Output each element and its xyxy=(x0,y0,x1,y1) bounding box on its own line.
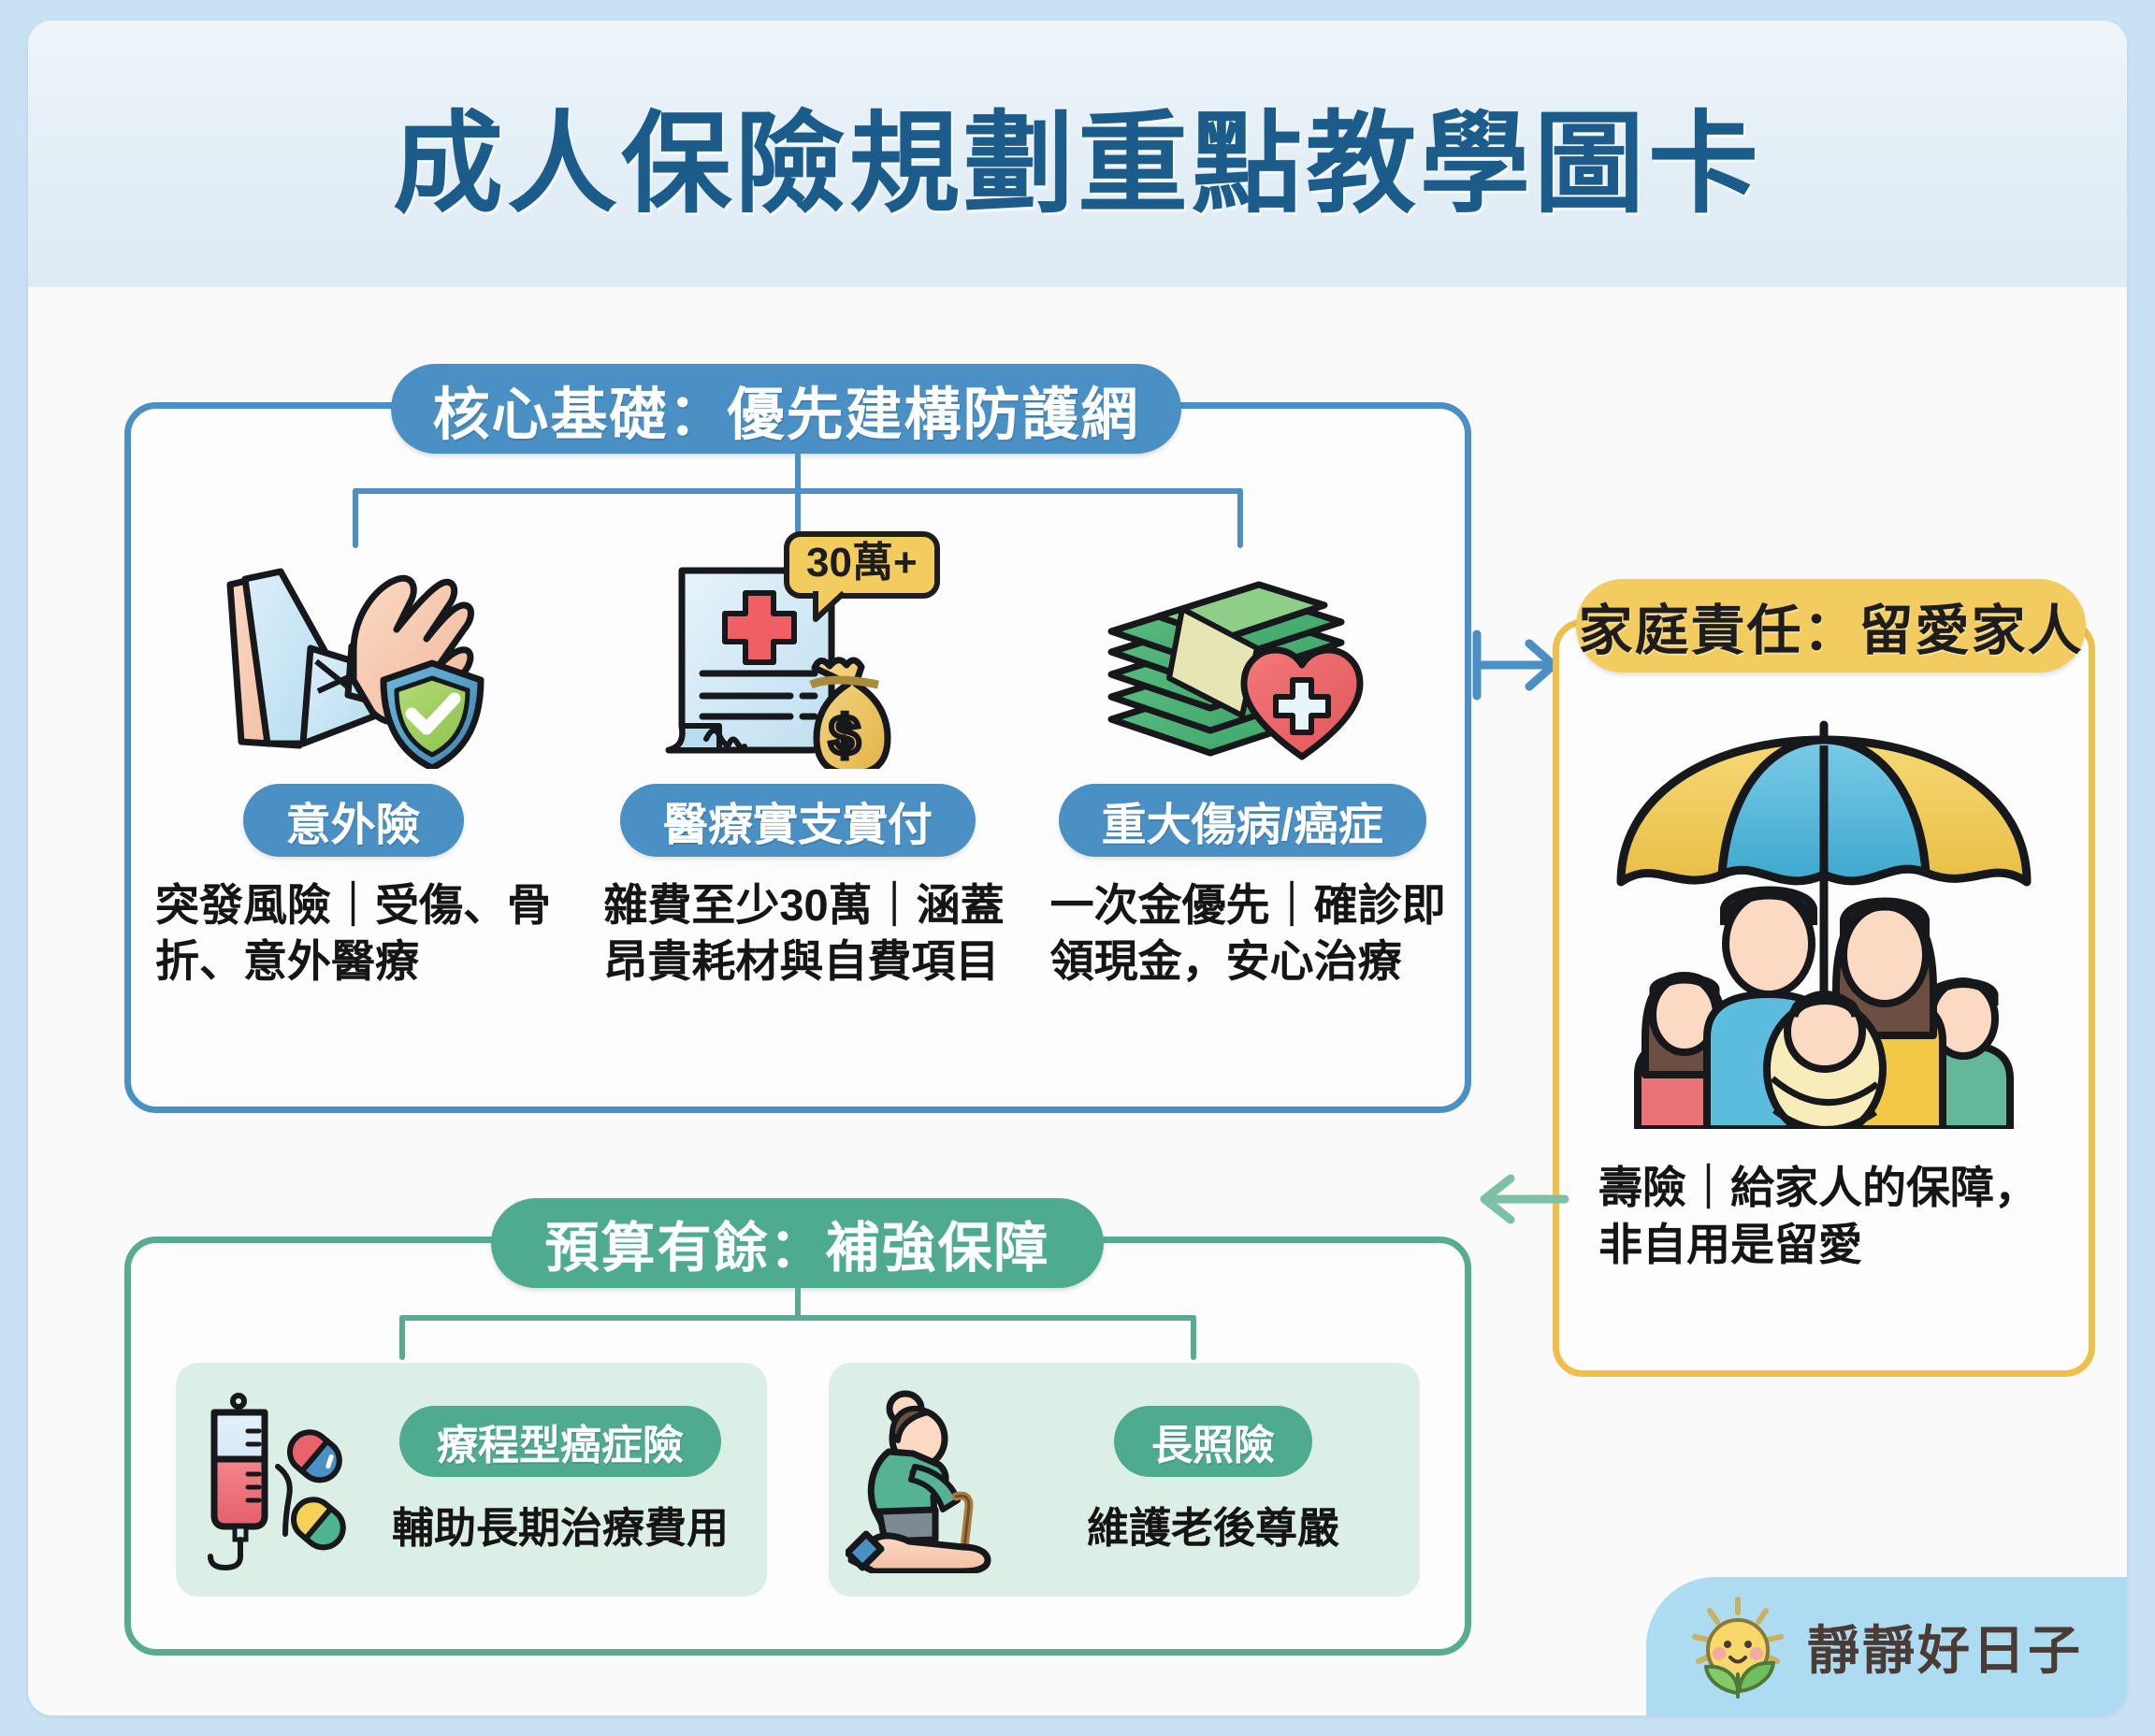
core-item-medical: $ 醫療實支實付 雜費至少30萬｜涵蓋昂貴耗材與自費項目 xyxy=(575,549,1020,990)
budget-text-cancer: 療程型癌症險 輔助長期治療費用 xyxy=(370,1406,750,1555)
core-item-accident: 意外險 突發風險｜受傷、骨折、意外醫療 xyxy=(131,549,575,990)
core-foundation-badge: 核心基礎：優先建構防護網 xyxy=(391,364,1181,454)
family-responsibility-badge: 家庭責任：留愛家人 xyxy=(1576,579,2086,673)
core-desc-accident: 突發風險｜受傷、骨折、意外醫療 xyxy=(146,877,560,990)
budget-desc-ltc: 維護老後尊嚴 xyxy=(1087,1494,1339,1555)
budget-desc-cancer: 輔助長期治療費用 xyxy=(392,1494,729,1555)
core-columns: 意外險 突發風險｜受傷、骨折、意外醫療 xyxy=(131,549,1465,990)
core-desc-critical: 一次金優先｜確診即領現金，安心治療 xyxy=(1035,877,1450,990)
elderly-cane-hand-icon xyxy=(846,1386,1023,1573)
family-description: 壽險｜給家人的保障，非自用是留愛 xyxy=(1598,1159,2075,1273)
bandaged-arm-shield-icon xyxy=(146,549,560,769)
core-pill-medical: 醫療實支實付 xyxy=(620,784,976,857)
family-responsibility-card: 家庭責任：留愛家人 xyxy=(1553,619,2095,1377)
budget-item-ltc: 長照險 維護老後尊嚴 xyxy=(829,1363,1420,1597)
budget-pill-cancer: 療程型癌症險 xyxy=(399,1406,721,1477)
iv-drip-pills-icon xyxy=(193,1386,370,1573)
page-title: 成人保險規劃重點教學圖卡 xyxy=(393,74,1762,234)
budget-text-ltc: 長照險 維護老後尊嚴 xyxy=(1023,1406,1403,1555)
sun-leaf-icon xyxy=(1685,1594,1790,1699)
budget-sub-cards: 療程型癌症險 輔助長期治療費用 xyxy=(131,1363,1465,1597)
cash-stack-heart-icon xyxy=(1035,549,1450,769)
budget-pill-ltc: 長照險 xyxy=(1114,1406,1312,1477)
card-surface: 成人保險規劃重點教學圖卡 核心基礎：優先建構防護網 xyxy=(28,21,2127,1715)
core-desc-medical: 雜費至少30萬｜涵蓋昂貴耗材與自費項目 xyxy=(590,877,1005,990)
infographic-canvas: 成人保險規劃重點教學圖卡 核心基礎：優先建構防護網 xyxy=(0,0,2155,1736)
core-item-critical: 重大傷病/癌症 一次金優先｜確診即領現金，安心治療 xyxy=(1020,549,1465,990)
core-pill-critical: 重大傷病/癌症 xyxy=(1059,784,1426,857)
budget-item-cancer: 療程型癌症險 輔助長期治療費用 xyxy=(176,1363,767,1597)
amount-callout-bubble: 30萬+ xyxy=(784,531,940,599)
budget-connector-tree xyxy=(131,1288,1465,1363)
core-pill-accident: 意外險 xyxy=(243,784,464,857)
core-foundation-card: 核心基礎：優先建構防護網 xyxy=(124,402,1471,1113)
brand-name: 靜靜好日子 xyxy=(1807,1609,2083,1685)
header-band: 成人保險規劃重點教學圖卡 xyxy=(28,21,2127,287)
svg-text:$: $ xyxy=(830,705,860,766)
family-umbrella-icon xyxy=(1559,699,2089,1138)
budget-supplement-badge: 預算有餘：補強保障 xyxy=(491,1198,1104,1288)
brand-logo: 靜靜好日子 xyxy=(1646,1577,2127,1715)
budget-supplement-card: 預算有餘：補強保障 xyxy=(124,1237,1471,1656)
